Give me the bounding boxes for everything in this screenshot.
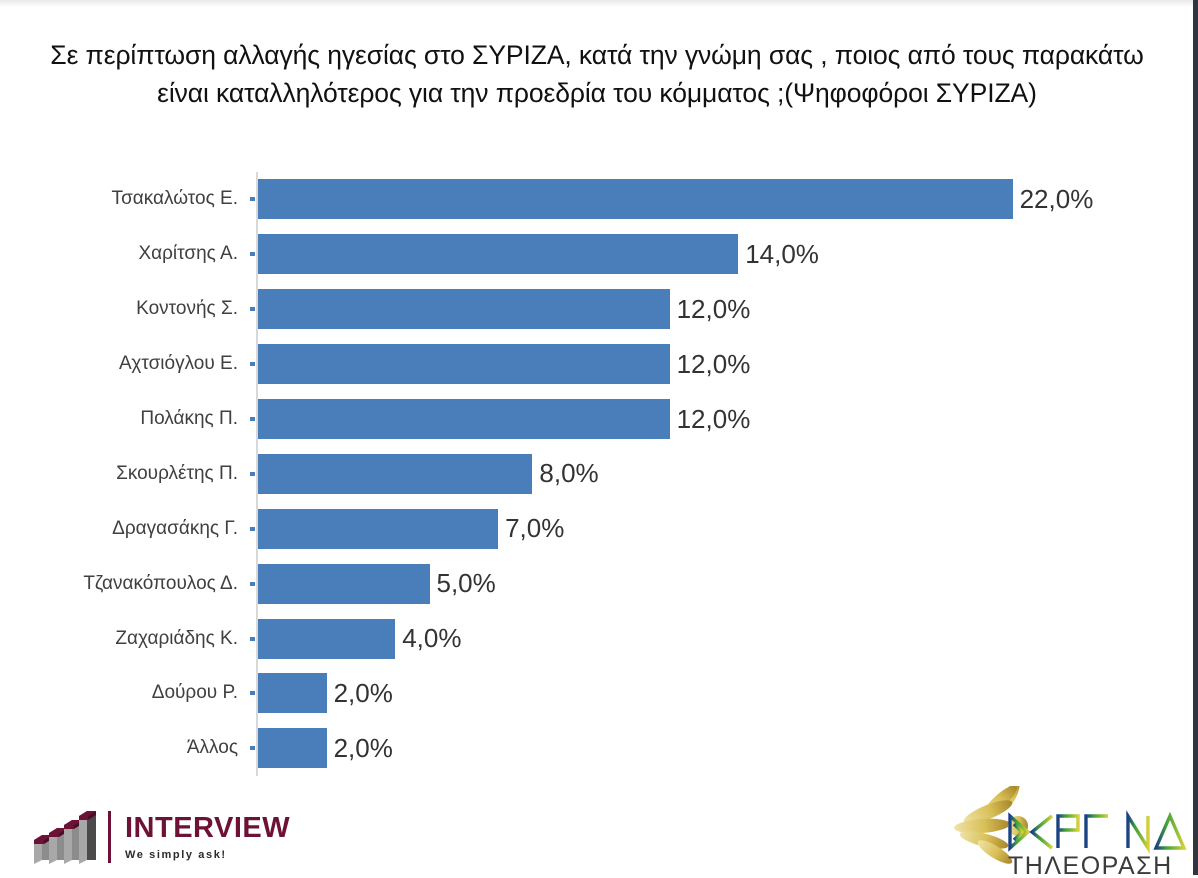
bar-row: Ζαχαριάδης Κ.4,0% xyxy=(0,611,1198,666)
bar-container: 2,0% xyxy=(258,673,393,713)
bar-container: 12,0% xyxy=(258,289,750,329)
vergina-logo: ΤΗΛΕΟΡΑΣΗ xyxy=(948,786,1192,878)
category-label: Ζαχαριάδης Κ. xyxy=(115,628,256,650)
bar[interactable] xyxy=(258,234,738,274)
chart-title: Σε περίπτωση αλλαγής ηγεσίας στο ΣΥΡΙΖΑ,… xyxy=(38,36,1156,112)
axis-tick xyxy=(250,691,255,695)
vergina-sun-icon: ΤΗΛΕΟΡΑΣΗ xyxy=(948,786,1192,878)
bar-value-label: 4,0% xyxy=(402,623,461,654)
bar-container: 22,0% xyxy=(258,179,1093,219)
interview-logo-tagline: We simply ask! xyxy=(125,849,290,861)
bar-value-label: 5,0% xyxy=(437,568,496,599)
interview-logo-text: INTERVIEW We simply ask! xyxy=(125,814,290,861)
bar-row: Δούρου Ρ.2,0% xyxy=(0,666,1198,721)
bar-row: Άλλος2,0% xyxy=(0,721,1198,776)
bar-container: 14,0% xyxy=(258,234,819,274)
category-label: Χαρίτσης Α. xyxy=(138,243,256,265)
bar[interactable] xyxy=(258,454,532,494)
bar-rows-container: Τσακαλώτος Ε.22,0%Χαρίτσης Α.14,0%Κοντον… xyxy=(0,172,1198,776)
bar-value-label: 14,0% xyxy=(745,239,819,270)
axis-tick xyxy=(250,252,255,256)
axis-tick xyxy=(250,197,255,201)
axis-tick xyxy=(250,527,255,531)
bar[interactable] xyxy=(258,289,670,329)
bar[interactable] xyxy=(258,728,327,768)
bar[interactable] xyxy=(258,179,1013,219)
axis-tick xyxy=(250,637,255,641)
slide-canvas: Σε περίπτωση αλλαγής ηγεσίας στο ΣΥΡΙΖΑ,… xyxy=(0,0,1198,875)
bar-chart-3d-icon xyxy=(32,808,98,866)
axis-tick xyxy=(250,362,255,366)
category-label: Πολάκης Π. xyxy=(140,408,256,430)
logo-divider xyxy=(108,811,111,863)
interview-logo: INTERVIEW We simply ask! xyxy=(32,806,302,868)
bar-container: 7,0% xyxy=(258,509,564,549)
bar-container: 4,0% xyxy=(258,619,461,659)
bar-value-label: 12,0% xyxy=(677,349,751,380)
bar-value-label: 2,0% xyxy=(334,678,393,709)
bar-value-label: 7,0% xyxy=(505,513,564,544)
bar[interactable] xyxy=(258,619,395,659)
axis-tick xyxy=(250,746,255,750)
svg-text:ΤΗΛΕΟΡΑΣΗ: ΤΗΛΕΟΡΑΣΗ xyxy=(1008,852,1173,878)
category-label: Άλλος xyxy=(187,737,256,759)
bar-value-label: 12,0% xyxy=(677,404,751,435)
bar[interactable] xyxy=(258,509,498,549)
category-label: Κοντονής Σ. xyxy=(136,298,256,320)
category-label: Σκουρλέτης Π. xyxy=(116,463,256,485)
axis-tick xyxy=(250,307,255,311)
bar-value-label: 22,0% xyxy=(1020,184,1094,215)
bar-row: Πολάκης Π.12,0% xyxy=(0,392,1198,447)
category-label: Αχτσιόγλου Ε. xyxy=(119,353,256,375)
bar-row: Δραγασάκης Γ.7,0% xyxy=(0,501,1198,556)
category-label: Τσακαλώτος Ε. xyxy=(112,188,256,210)
bar-container: 8,0% xyxy=(258,454,599,494)
interview-logo-name: INTERVIEW xyxy=(125,814,290,843)
bar[interactable] xyxy=(258,564,430,604)
bar[interactable] xyxy=(258,399,670,439)
bar-row: Αχτσιόγλου Ε.12,0% xyxy=(0,337,1198,392)
category-label: Δραγασάκης Γ. xyxy=(112,518,256,540)
bar-container: 12,0% xyxy=(258,399,750,439)
axis-tick xyxy=(250,582,255,586)
axis-tick xyxy=(250,417,255,421)
category-label: Τζανακόπουλος Δ. xyxy=(83,573,256,595)
chart-plot-area: Τσακαλώτος Ε.22,0%Χαρίτσης Α.14,0%Κοντον… xyxy=(0,172,1198,777)
bar-container: 2,0% xyxy=(258,728,393,768)
bar-row: Σκουρλέτης Π.8,0% xyxy=(0,446,1198,501)
axis-tick xyxy=(250,472,255,476)
bar-row: Τσακαλώτος Ε.22,0% xyxy=(0,172,1198,227)
bar-value-label: 12,0% xyxy=(677,294,751,325)
bar-row: Κοντονής Σ.12,0% xyxy=(0,282,1198,337)
category-label: Δούρου Ρ. xyxy=(152,682,256,704)
bar[interactable] xyxy=(258,673,327,713)
bar-value-label: 2,0% xyxy=(334,733,393,764)
bar-value-label: 8,0% xyxy=(539,458,598,489)
bar[interactable] xyxy=(258,344,670,384)
bar-row: Χαρίτσης Α.14,0% xyxy=(0,227,1198,282)
bar-container: 5,0% xyxy=(258,564,496,604)
bar-row: Τζανακόπουλος Δ.5,0% xyxy=(0,556,1198,611)
bar-container: 12,0% xyxy=(258,344,750,384)
